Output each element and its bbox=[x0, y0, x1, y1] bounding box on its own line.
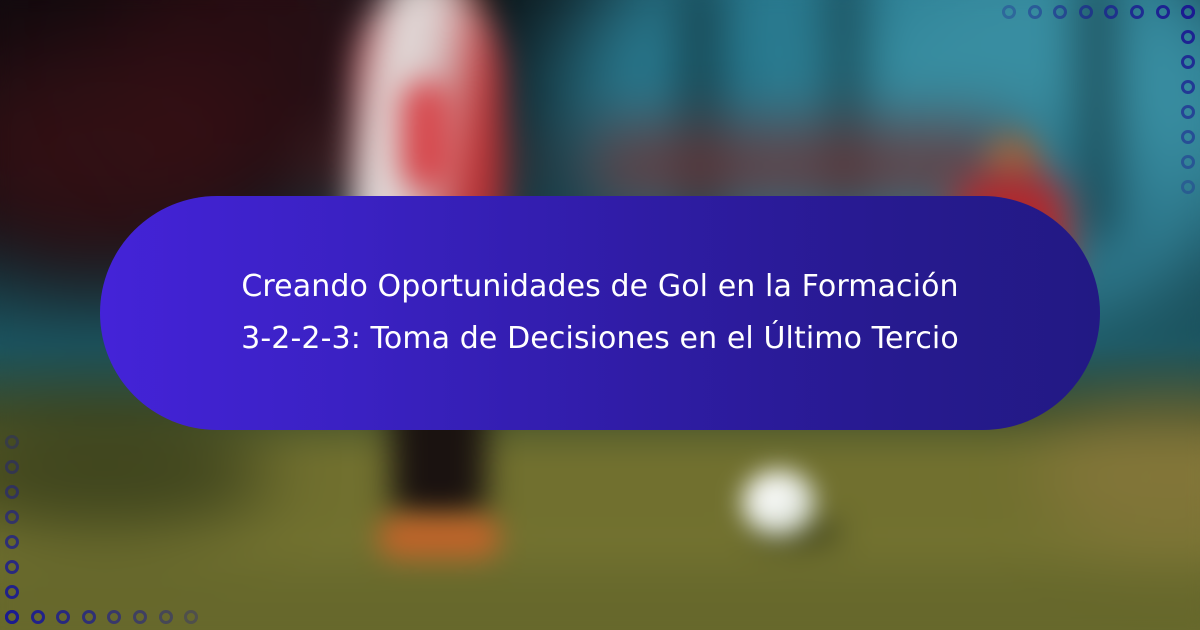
photo-post-3 bbox=[1080, 0, 1114, 240]
page-title: Creando Oportunidades de Gol en la Forma… bbox=[241, 261, 959, 364]
photo-player-number bbox=[400, 80, 452, 190]
photo-grass-band-3 bbox=[0, 556, 1200, 630]
soccer-ball bbox=[742, 470, 816, 536]
photo-barrier-right bbox=[590, 128, 1010, 202]
social-card-canvas: Creando Oportunidades de Gol en la Forma… bbox=[0, 0, 1200, 630]
photo-player-boot bbox=[378, 516, 500, 558]
title-card: Creando Oportunidades de Gol en la Forma… bbox=[100, 196, 1100, 430]
